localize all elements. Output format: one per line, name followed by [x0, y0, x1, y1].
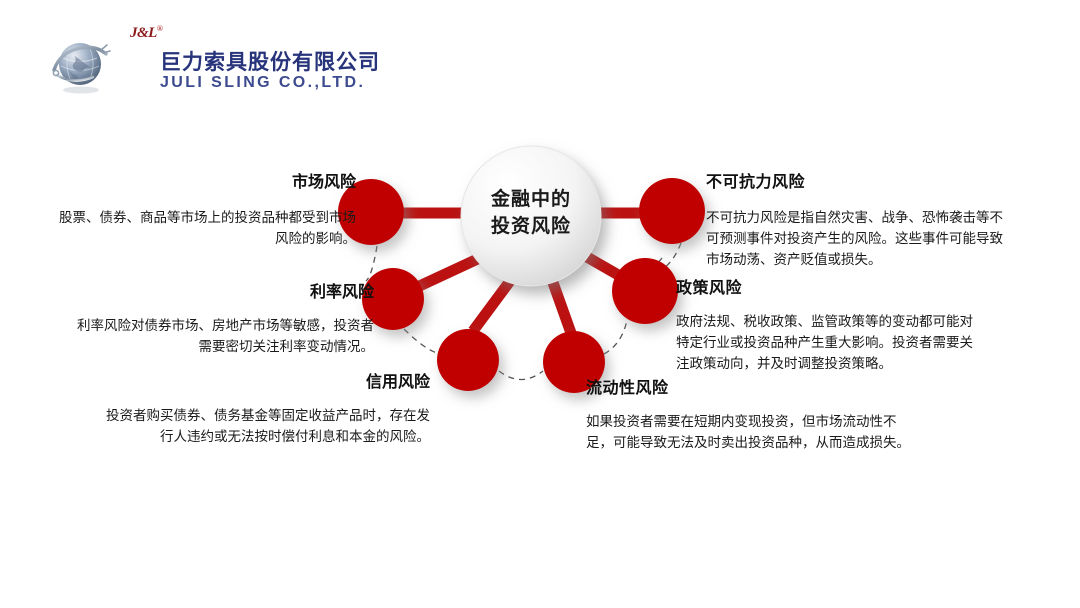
block-liquidity-risk-body: 如果投资者需要在短期内变现投资，但市场流动性不足，可能导致无法及时卖出投资品种，…	[586, 412, 916, 454]
block-credit-risk-title: 信用风险	[100, 372, 430, 392]
block-credit-risk: 信用风险 投资者购买债券、债务基金等固定收益产品时，存在发行人违约或无法按时偿付…	[100, 372, 430, 448]
block-rate-risk: 利率风险 利率风险对债券市场、房地产市场等敏感，投资者需要密切关注利率变动情况。	[74, 282, 374, 358]
center-label-line1: 金融中的	[461, 186, 601, 213]
dashed-link-liquid-policy	[604, 320, 627, 354]
center-label-line2: 投资风险	[461, 213, 601, 240]
block-rate-risk-body: 利率风险对债券市场、房地产市场等敏感，投资者需要密切关注利率变动情况。	[74, 316, 374, 358]
slide-canvas: J&L® 巨力索具股份有限公司 JULI SLING CO.,LTD.	[0, 0, 1080, 608]
center-label: 金融中的 投资风险	[461, 186, 601, 240]
block-liquidity-risk-title: 流动性风险	[586, 378, 916, 398]
dashed-link-rate-credit	[404, 329, 440, 354]
spoke-liquid	[551, 277, 571, 333]
block-market-risk-title: 市场风险	[56, 172, 356, 192]
node-force[interactable]	[639, 178, 705, 244]
node-policy[interactable]	[612, 258, 678, 324]
block-market-risk: 市场风险 股票、债券、商品等市场上的投资品种都受到市场风险的影响。	[56, 172, 356, 250]
block-policy-risk-title: 政策风险	[676, 278, 986, 298]
spoke-credit	[473, 277, 513, 331]
block-force-majeure-risk: 不可抗力风险 不可抗力风险是指自然灾害、战争、恐怖袭击等不可预测事件对投资产生的…	[706, 172, 1016, 271]
block-policy-risk-body: 政府法规、税收政策、监管政策等的变动都可能对特定行业或投资品种产生重大影响。投资…	[676, 312, 986, 375]
node-credit[interactable]	[437, 329, 499, 391]
block-market-risk-body: 股票、债券、商品等市场上的投资品种都受到市场风险的影响。	[56, 208, 356, 250]
block-force-majeure-risk-body: 不可抗力风险是指自然灾害、战争、恐怖袭击等不可预测事件对投资产生的风险。这些事件…	[706, 208, 1016, 271]
spoke-rate	[413, 256, 484, 289]
block-liquidity-risk: 流动性风险 如果投资者需要在短期内变现投资，但市场流动性不足，可能导致无法及时卖…	[586, 378, 916, 454]
block-policy-risk: 政策风险 政府法规、税收政策、监管政策等的变动都可能对特定行业或投资品种产生重大…	[676, 278, 986, 375]
dashed-link-credit-liquid	[499, 371, 543, 380]
block-rate-risk-title: 利率风险	[74, 282, 374, 302]
block-force-majeure-risk-title: 不可抗力风险	[706, 172, 1016, 192]
block-credit-risk-body: 投资者购买债券、债务基金等固定收益产品时，存在发行人违约或无法按时偿付利息和本金…	[100, 406, 430, 448]
